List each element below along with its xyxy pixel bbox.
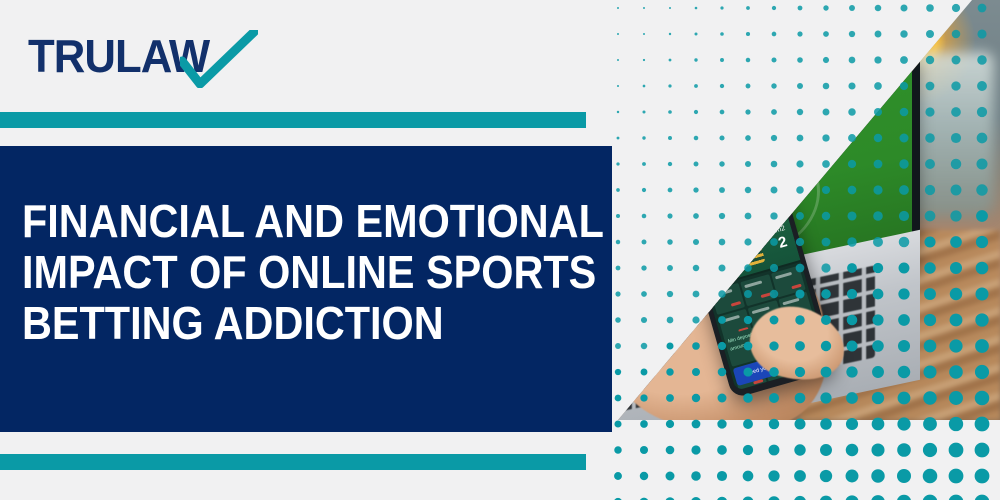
soccer-ball-icon	[745, 207, 762, 224]
page-title: FINANCIAL AND EMOTIONAL IMPACT OF ONLINE…	[22, 196, 535, 349]
trulaw-logo[interactable]: TRULAW	[28, 28, 219, 84]
score-right: 2	[776, 233, 789, 252]
photo-background: LIVE Team1 Team2 1 2	[600, 0, 1000, 420]
pitch-player	[780, 133, 789, 149]
teal-bar-top	[0, 112, 586, 128]
title-line-1: FINANCIAL AND EMOTIONAL	[22, 196, 535, 247]
teal-bar-bottom	[0, 454, 586, 470]
pitch-player	[793, 175, 802, 191]
trulaw-banner: LIVE Team1 Team2 1 2	[0, 0, 1000, 500]
hero-photo: LIVE Team1 Team2 1 2	[600, 0, 1000, 420]
app-goal-left-icon	[693, 204, 737, 247]
title-line-3: BETTING ADDICTION	[22, 298, 535, 349]
score-left: 1	[706, 254, 719, 273]
checkmark-icon	[180, 30, 258, 88]
title-line-2: IMPACT OF ONLINE SPORTS	[22, 247, 535, 298]
team-left-label: Team1	[701, 243, 723, 256]
app-goal-right-icon	[738, 191, 782, 234]
live-badge: LIVE	[718, 216, 763, 244]
